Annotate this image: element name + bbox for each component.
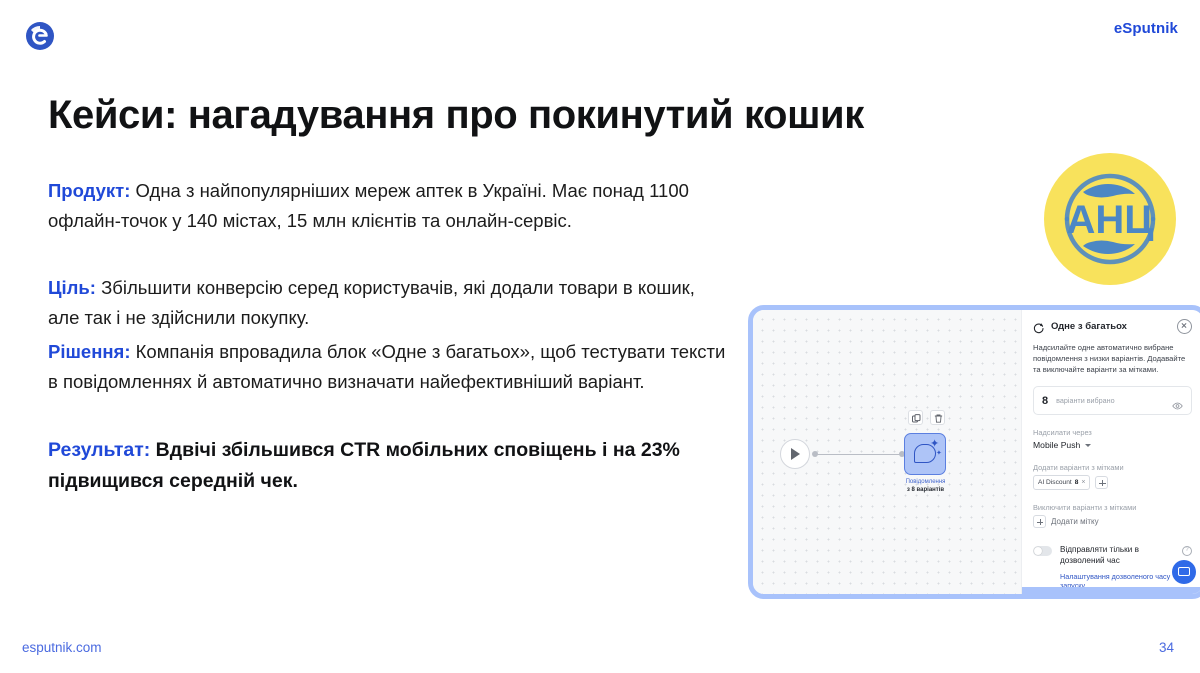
sparkle-icon: ✦ (930, 440, 939, 449)
paragraph-result: Результат: Вдвічі збільшився CTR мобільн… (48, 435, 728, 497)
eye-icon[interactable] (1172, 397, 1183, 405)
allowed-time-toggle-row: Відправляти тільки в дозволений час ? (1033, 544, 1192, 566)
toggle-knob (1034, 547, 1042, 555)
brand-name: eSputnik (1114, 20, 1178, 37)
add-tag-label: Додати мітку (1051, 517, 1099, 526)
start-node[interactable] (780, 439, 810, 469)
node-label: Повідомлення з 8 варіантів (873, 478, 978, 494)
add-tag-button[interactable]: Додати мітку (1033, 515, 1192, 528)
pane-bottom-bar (1022, 587, 1200, 594)
variants-selected-field[interactable]: 8 варіанти вибрано (1033, 386, 1192, 415)
allowed-time-toggle[interactable] (1033, 546, 1052, 556)
paragraph-goal-text: Збільшити конверсію серед користувачів, … (48, 277, 695, 328)
split-variants-icon (1033, 321, 1045, 333)
paragraph-solution-text: Компанія впровадила блок «Одне з багатьо… (48, 341, 725, 392)
tag-chip-ai-discount[interactable]: AI Discount 8 × (1033, 475, 1090, 490)
tag-chip-remove-icon[interactable]: × (1081, 479, 1085, 486)
node-label-line1: Повідомлення (873, 478, 978, 486)
paragraph-goal-lead: Ціль: (48, 277, 96, 298)
sparkle-small-icon: ✦ (936, 449, 942, 458)
tag-chip-label: AI Discount (1038, 479, 1072, 486)
paragraph-goal: Ціль: Збільшити конверсію серед користув… (48, 273, 728, 333)
variants-placeholder-label: варіанти вибрано (1056, 396, 1164, 405)
add-tag-plus-icon[interactable] (1095, 476, 1108, 489)
chat-bubble-icon[interactable] (1172, 560, 1196, 584)
anc-logo-text: АНЦ (1067, 198, 1154, 242)
paragraph-result-lead: Результат: (48, 439, 150, 461)
variants-count: 8 (1042, 395, 1048, 407)
allowed-time-label: Відправляти тільки в дозволений час (1060, 544, 1174, 566)
chat-bubble-inner (1178, 567, 1190, 576)
pane-title: Одне з багатьох (1051, 321, 1171, 332)
node-settings-pane: Одне з багатьох Надсилайте одне автомати… (1021, 310, 1200, 594)
anc-pharmacy-logo: АНЦ (1043, 152, 1177, 286)
pane-description: Надсилайте одне автоматично вибране пові… (1033, 342, 1192, 375)
include-tags-label: Додати варіанти з мітками (1033, 463, 1192, 472)
copy-icon[interactable] (908, 410, 923, 425)
channel-label: Надсилати через (1033, 428, 1192, 437)
node-toolbar[interactable] (908, 410, 945, 425)
paragraph-solution-lead: Рішення: (48, 341, 131, 362)
pane-header: Одне з багатьох (1033, 319, 1192, 334)
app-screenshot-frame: ✦ ✦ Повідомлення з 8 варіантів Одне з ба… (748, 305, 1200, 599)
workflow-canvas[interactable]: ✦ ✦ Повідомлення з 8 варіантів (753, 310, 1021, 594)
node-label-line2: з 8 варіантів (873, 486, 978, 494)
play-triangle-icon (791, 448, 800, 460)
footer-page-number: 34 (1159, 640, 1174, 655)
paragraph-solution: Рішення: Компанія впровадила блок «Одне … (48, 337, 728, 397)
page-title: Кейси: нагадування про покинутий кошик (48, 91, 1048, 139)
include-tags-row: AI Discount 8 × (1033, 475, 1192, 490)
exclude-tags-label: Виключити варіанти з мітками (1033, 503, 1192, 512)
workflow-edge (815, 454, 901, 456)
close-icon[interactable] (1177, 319, 1192, 334)
channel-value: Mobile Push (1033, 440, 1080, 450)
plus-icon[interactable] (1033, 515, 1046, 528)
channel-select[interactable]: Mobile Push (1033, 440, 1192, 450)
tag-chip-count: 8 (1075, 479, 1079, 486)
footer-url[interactable]: esputnik.com (22, 640, 102, 655)
paragraph-product: Продукт: Одна з найпопулярніших мереж ап… (48, 176, 728, 236)
chevron-down-icon (1085, 444, 1091, 447)
esputnik-logo-icon (22, 18, 58, 54)
paragraph-product-text: Одна з найпопулярніших мереж аптек в Укр… (48, 180, 689, 231)
help-icon[interactable]: ? (1182, 546, 1192, 556)
paragraph-product-lead: Продукт: (48, 180, 130, 201)
delete-icon[interactable] (930, 410, 945, 425)
message-variants-node[interactable]: ✦ ✦ (904, 433, 946, 475)
